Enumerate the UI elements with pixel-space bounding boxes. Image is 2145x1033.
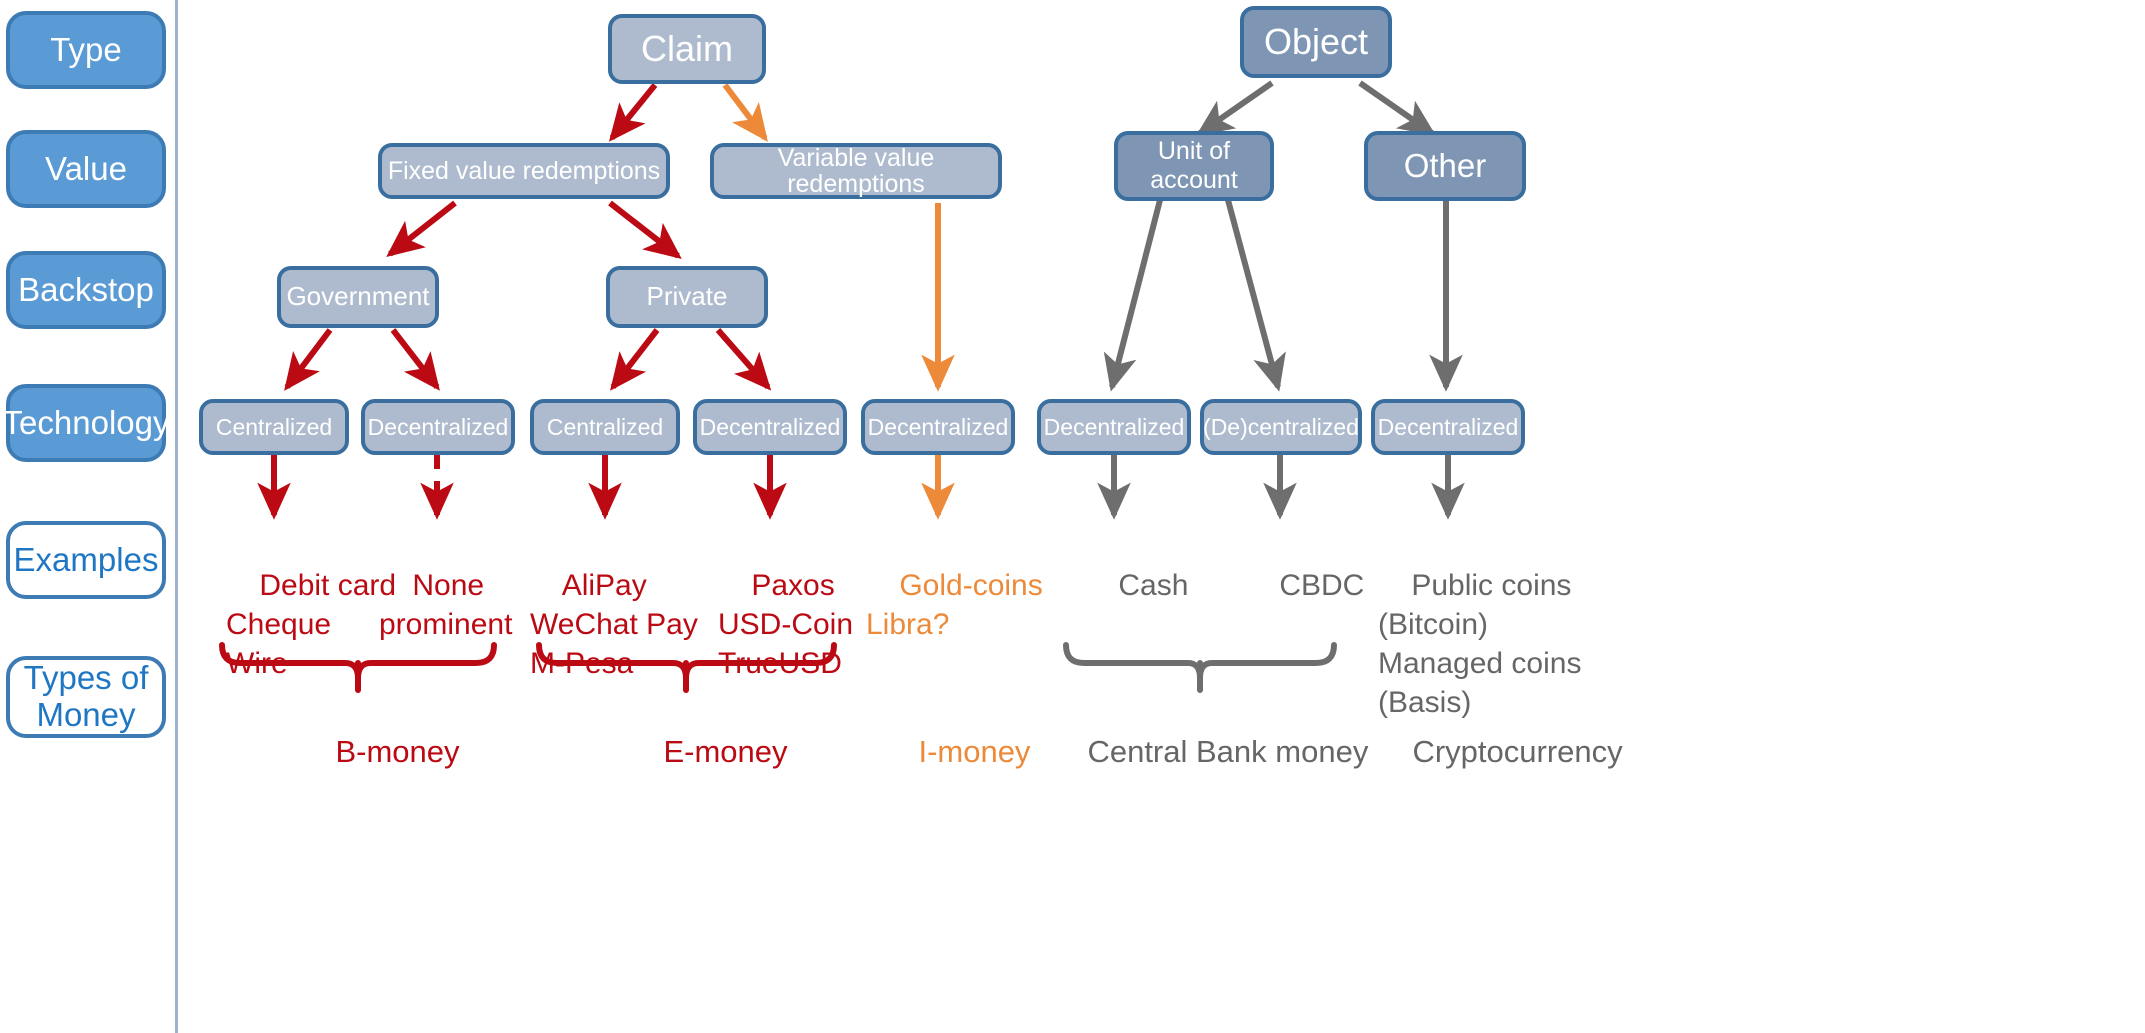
money-type-central-bank-money: Central Bank money <box>1053 692 1368 773</box>
node-private[interactable]: Private <box>606 266 768 328</box>
example-text: Cash <box>1118 569 1188 602</box>
example-text: AliPay WeChat Pay M-Pesa <box>530 569 698 680</box>
node-other[interactable]: Other <box>1364 131 1526 201</box>
spine-row-technology: Technology <box>6 384 166 462</box>
diagram-canvas: Type Value Backstop Technology Examples … <box>0 0 2145 1033</box>
node-label: Fixed value redemptions <box>388 158 660 184</box>
node-label: Centralized <box>547 415 663 439</box>
example-alipay: AliPay WeChat Pay M-Pesa <box>530 527 698 683</box>
spine-row-types-of-money: Types of Money <box>6 656 166 738</box>
node-tech-variable-decentralized[interactable]: Decentralized <box>861 399 1015 455</box>
node-tech-gov-centralized[interactable]: Centralized <box>199 399 349 455</box>
node-government[interactable]: Government <box>277 266 439 328</box>
spine-label: Value <box>45 151 127 187</box>
node-label: Decentralized <box>868 415 1009 439</box>
node-unit-of-account[interactable]: Unit of account <box>1114 131 1274 201</box>
spine-label: Technology <box>3 405 170 441</box>
node-label: Centralized <box>216 415 332 439</box>
node-label: Claim <box>641 30 733 68</box>
example-text: None prominent <box>379 569 512 641</box>
money-type-label: Central Bank money <box>1087 734 1368 769</box>
node-label: Unit of account <box>1150 137 1238 195</box>
money-type-label: I-money <box>918 734 1030 769</box>
node-label: Object <box>1264 23 1368 61</box>
money-type-cryptocurrency: Cryptocurrency <box>1378 692 1623 773</box>
node-claim[interactable]: Claim <box>608 14 766 84</box>
example-text: Paxos USD-Coin TrueUSD <box>718 569 853 680</box>
node-tech-other-decentralized[interactable]: Decentralized <box>1371 399 1525 455</box>
node-label: Government <box>286 283 429 310</box>
example-none-prominent: None prominent <box>379 527 512 644</box>
node-object[interactable]: Object <box>1240 6 1392 78</box>
node-tech-unit-de-centralized[interactable]: (De)centralized <box>1200 399 1362 455</box>
node-label: Other <box>1404 149 1487 184</box>
node-label: Decentralized <box>1378 415 1519 439</box>
example-text: Debit card Cheque Wire <box>226 569 396 680</box>
money-type-i-money: I-money <box>884 692 1030 773</box>
spine-label: Type <box>50 32 122 68</box>
node-tech-unit-decentralized[interactable]: Decentralized <box>1037 399 1191 455</box>
spine-label: Backstop <box>18 272 154 308</box>
example-gold-coins: Gold-coins Libra? <box>866 527 1043 644</box>
spine-row-type: Type <box>6 11 166 89</box>
example-debit-card: Debit card Cheque Wire <box>226 527 396 683</box>
spine-row-examples: Examples <box>6 521 166 599</box>
column-divider <box>175 0 178 1033</box>
money-type-b-money: B-money <box>301 692 460 773</box>
spine-label: Examples <box>14 542 159 578</box>
money-type-label: B-money <box>335 734 459 769</box>
money-type-e-money: E-money <box>629 692 788 773</box>
node-label: Variable value redemptions <box>714 145 998 198</box>
spine-label: Types of Money <box>24 660 149 734</box>
node-variable-value-redemptions[interactable]: Variable value redemptions <box>710 143 1002 199</box>
node-tech-private-centralized[interactable]: Centralized <box>530 399 680 455</box>
spine-row-value: Value <box>6 130 166 208</box>
spine-row-backstop: Backstop <box>6 251 166 329</box>
example-cbdc: CBDC <box>1246 527 1364 605</box>
node-label: (De)centralized <box>1203 415 1359 439</box>
node-fixed-value-redemptions[interactable]: Fixed value redemptions <box>378 143 670 199</box>
node-tech-private-decentralized[interactable]: Decentralized <box>693 399 847 455</box>
example-text: Gold-coins Libra? <box>866 569 1043 641</box>
example-cash: Cash <box>1085 527 1188 605</box>
money-type-label: Cryptocurrency <box>1412 734 1622 769</box>
node-label: Decentralized <box>700 415 841 439</box>
node-label: Private <box>647 283 728 310</box>
node-label: Decentralized <box>1044 415 1185 439</box>
node-tech-gov-decentralized[interactable]: Decentralized <box>361 399 515 455</box>
connector-layer <box>0 0 2145 1033</box>
money-type-label: E-money <box>663 734 787 769</box>
example-text: CBDC <box>1279 569 1364 602</box>
example-paxos: Paxos USD-Coin TrueUSD <box>718 527 853 683</box>
node-label: Decentralized <box>368 415 509 439</box>
